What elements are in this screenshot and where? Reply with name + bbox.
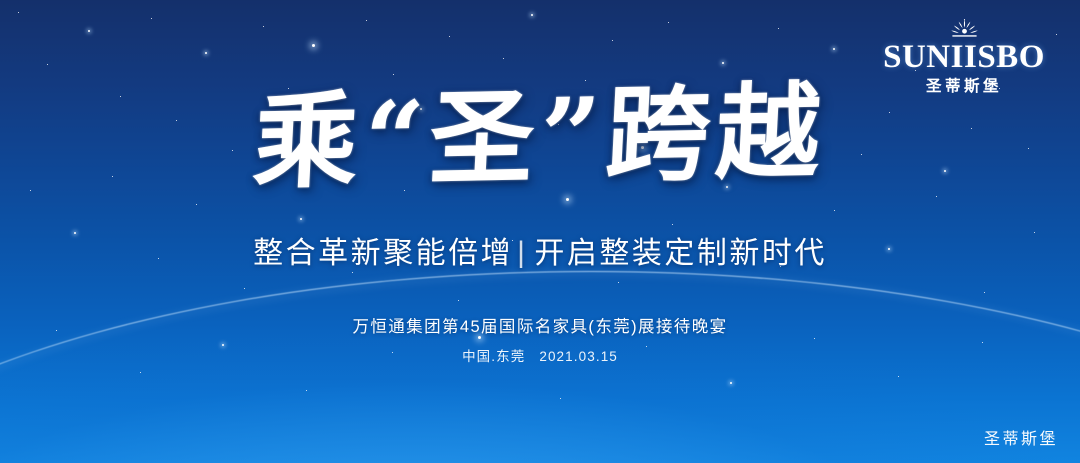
horizon-arc-glow bbox=[0, 271, 1080, 463]
lotus-sunburst-icon bbox=[937, 18, 992, 40]
subtitle-right: 开启整装定制新时代 bbox=[534, 237, 827, 270]
event-banner: SUNIISBO 圣蒂斯堡 乘“圣”跨越 整合革新聚能倍增|开启整装定制新时代 … bbox=[0, 0, 1080, 463]
watermark: 圣蒂斯堡 bbox=[984, 425, 1058, 449]
event-location: 中国.东莞 bbox=[462, 349, 525, 364]
subtitle-separator: | bbox=[517, 236, 527, 270]
subtitle: 整合革新聚能倍增|开启整装定制新时代 bbox=[0, 228, 1080, 272]
event-meta: 中国.东莞2021.03.15 bbox=[0, 345, 1080, 365]
event-title: 万恒通集团第45届国际名家具(东莞)展接待晚宴 bbox=[0, 313, 1080, 337]
horizon-arc bbox=[0, 271, 1080, 463]
headline: 乘“圣”跨越 bbox=[0, 66, 1080, 209]
event-date: 2021.03.15 bbox=[539, 349, 618, 364]
subtitle-left: 整合革新聚能倍增 bbox=[253, 237, 513, 270]
